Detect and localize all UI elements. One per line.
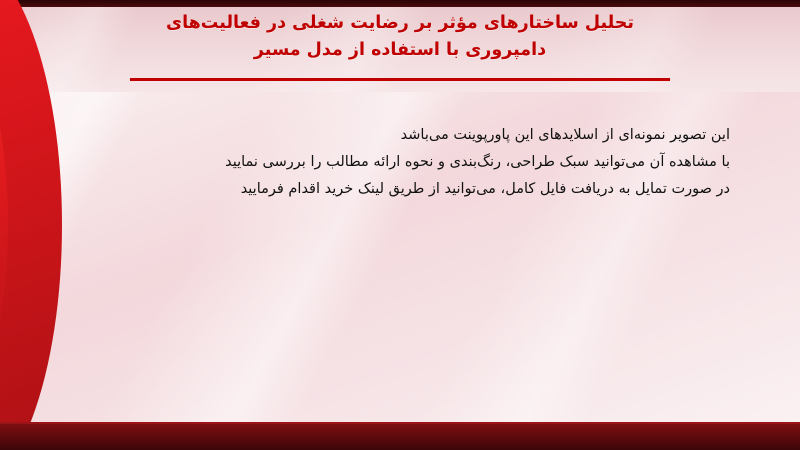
top-accent-bar [0,0,800,7]
slide-title: تحلیل ساختارهای مؤثر بر رضایت شغلی در فع… [0,10,800,64]
slide-body-text: این تصویر نمونه‌ای از اسلایدهای این پاور… [130,122,730,203]
slide-title-line-2: دامپروری با استفاده از مدل مسیر [96,37,704,64]
body-line-2: با مشاهده آن می‌توانید سبک طراحی، رنگ‌بن… [130,149,730,176]
bottom-accent-bar [0,424,800,450]
body-line-1: این تصویر نمونه‌ای از اسلایدهای این پاور… [130,122,730,149]
title-divider [130,78,670,81]
slide-title-line-1: تحلیل ساختارهای مؤثر بر رضایت شغلی در فع… [96,10,704,37]
body-line-3: در صورت تمایل به دریافت فایل کامل، می‌تو… [130,176,730,203]
presentation-slide: تحلیل ساختارهای مؤثر بر رضایت شغلی در فع… [0,0,800,450]
